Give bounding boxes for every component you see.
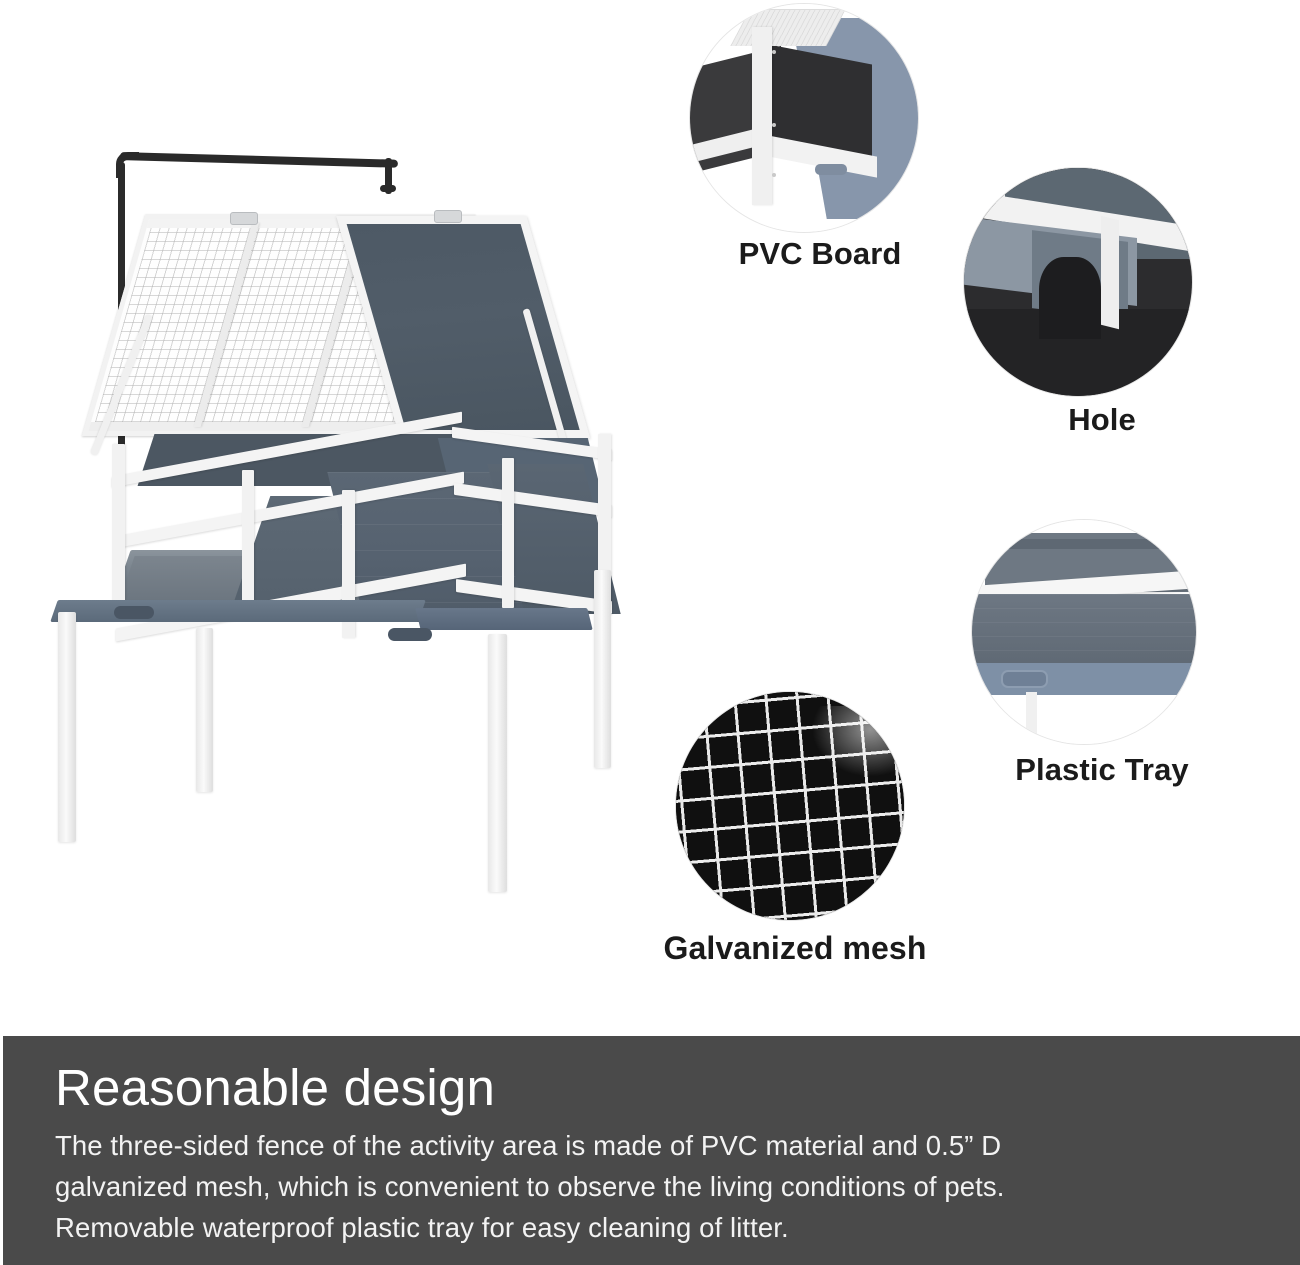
pvc-screw-1 — [772, 50, 776, 54]
tray-rim-front — [50, 600, 426, 622]
callout-label-galvanized-mesh: Galvanized mesh — [630, 930, 960, 967]
frame-post-front-left — [112, 444, 125, 602]
banner-body-line-3: Removable waterproof plastic tray for ea… — [55, 1207, 1245, 1248]
banner-body: The three-sided fence of the activity ar… — [55, 1125, 1245, 1248]
galvanized-mesh-art — [676, 692, 904, 920]
tray-handle-left[interactable] — [114, 606, 154, 619]
pvc-board-art — [690, 4, 918, 232]
plastic-tray-handle-slot — [1001, 670, 1048, 687]
plastic-tray-art — [972, 520, 1196, 744]
frame-post-right-mid — [502, 458, 514, 608]
leg-front-left — [58, 612, 76, 842]
lamp-arm-horizontal — [120, 152, 398, 168]
hole-art — [964, 168, 1192, 396]
pvc-corner-post — [752, 27, 773, 205]
galvanized-mesh-image — [676, 692, 904, 920]
description-banner: Reasonable design The three-sided fence … — [3, 1036, 1300, 1265]
callout-label-hole: Hole — [952, 402, 1252, 438]
tray-rim-right — [415, 608, 592, 630]
banner-body-line-2: galvanized mesh, which is convenient to … — [55, 1166, 1245, 1207]
callout-pvc-board: PVC Board — [676, 4, 964, 274]
hole-arched-opening — [1039, 257, 1101, 339]
callout-label-pvc-board: PVC Board — [676, 236, 964, 272]
hole-image — [964, 168, 1192, 396]
pvc-top-board — [730, 9, 846, 46]
hero-area: PVC Board Hole — [0, 0, 1300, 1036]
callout-hole: Hole — [952, 168, 1252, 454]
callout-plastic-tray: Plastic Tray — [948, 520, 1256, 812]
leg-front-right — [488, 634, 507, 892]
plastic-tray-rear-inner — [1006, 539, 1179, 548]
hole-right-white-rail — [1101, 216, 1119, 330]
plastic-tray-surface — [972, 594, 1196, 666]
lamp-arm-hook-tip — [380, 185, 396, 192]
plastic-tray-leg — [1026, 692, 1037, 744]
lid-hinge-right — [434, 210, 462, 223]
lid-hinge-left — [230, 212, 258, 225]
banner-heading: Reasonable design — [55, 1060, 495, 1116]
banner-body-line-1: The three-sided fence of the activity ar… — [55, 1125, 1245, 1166]
leg-rear-right — [594, 570, 611, 768]
frame-post-front-mid — [242, 470, 254, 618]
callout-label-plastic-tray: Plastic Tray — [948, 752, 1256, 788]
plastic-tray-texture — [972, 594, 1196, 666]
pvc-top-texture — [730, 10, 845, 46]
tray-handle-right[interactable] — [388, 628, 432, 641]
plastic-tray-image — [972, 520, 1196, 744]
product-photo — [36, 128, 656, 958]
pvc-board-image — [690, 4, 918, 232]
pvc-screw-3 — [772, 173, 776, 177]
mesh-glare-highlight — [804, 706, 900, 784]
leg-rear-left — [196, 628, 213, 792]
pvc-screw-2 — [772, 123, 776, 127]
callout-galvanized-mesh: Galvanized mesh — [630, 692, 960, 992]
pvc-tray-handle — [815, 164, 847, 175]
infographic-page: PVC Board Hole — [0, 0, 1300, 1265]
hutch-lid — [82, 214, 582, 446]
